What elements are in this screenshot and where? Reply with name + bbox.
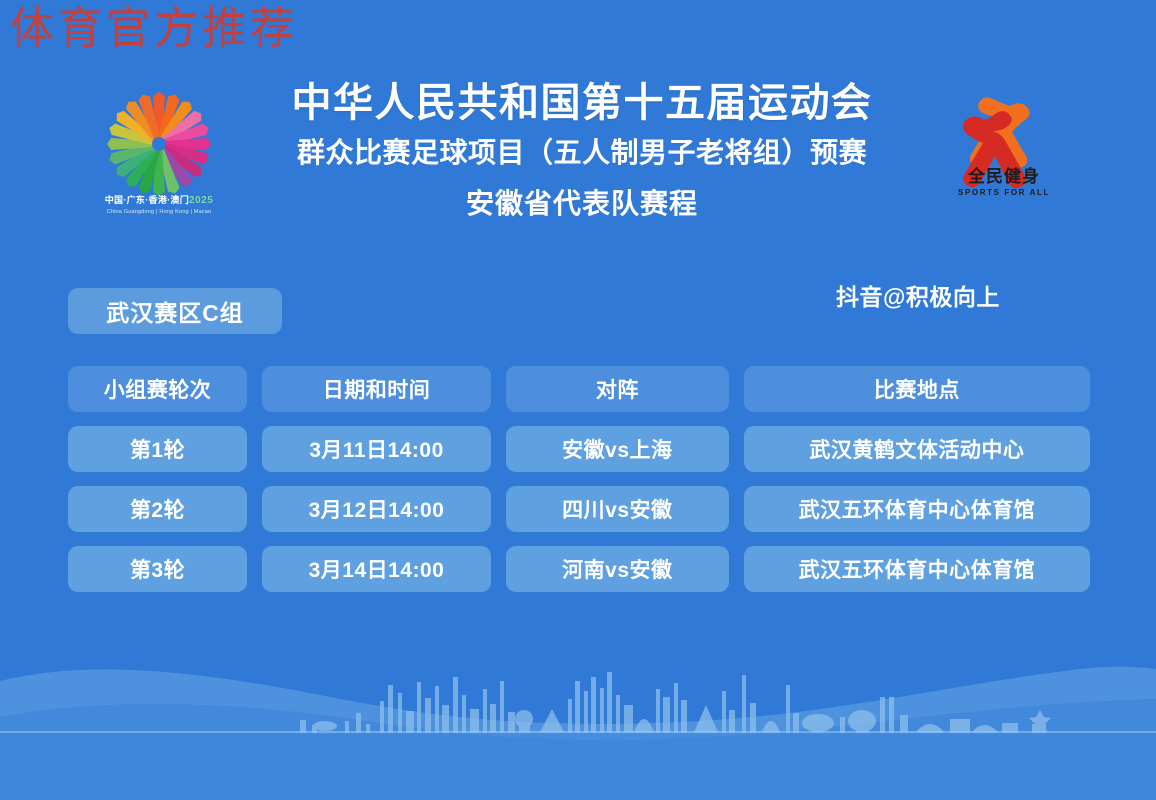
water-line xyxy=(0,731,1156,733)
column-header-datetime: 日期和时间 xyxy=(262,366,491,412)
cell-round: 第1轮 xyxy=(68,426,247,472)
cell-venue: 武汉五环体育中心体育馆 xyxy=(744,486,1090,532)
water-band xyxy=(0,732,1156,800)
page-title: 中华人民共和国第十五届运动会 xyxy=(218,78,946,128)
city-skyline xyxy=(300,672,1051,732)
table-row: 第2轮 3月12日14:00 四川vs安徽 武汉五环体育中心体育馆 xyxy=(68,486,1090,532)
cell-datetime: 3月11日14:00 xyxy=(262,426,491,472)
cell-matchup: 四川vs安徽 xyxy=(506,486,729,532)
title-block: 中华人民共和国第十五届运动会 群众比赛足球项目（五人制男子老将组）预赛 安徽省代… xyxy=(218,78,946,223)
table-row: 第3轮 3月14日14:00 河南vs安徽 武汉五环体育中心体育馆 xyxy=(68,546,1090,592)
cell-venue: 武汉五环体育中心体育馆 xyxy=(744,546,1090,592)
team-subtitle: 安徽省代表队赛程 xyxy=(218,184,946,223)
logo-left-caption-year: 2025 xyxy=(189,195,213,206)
cell-matchup: 河南vs安徽 xyxy=(506,546,729,592)
city-skyline-reflection xyxy=(300,732,1051,792)
logo-left-caption-en: China Guangdong | Hong Kong | Macao xyxy=(100,209,218,215)
event-subtitle: 群众比赛足球项目（五人制男子老将组）预赛 xyxy=(218,132,946,174)
cell-matchup: 安徽vs上海 xyxy=(506,426,729,472)
cell-datetime: 3月12日14:00 xyxy=(262,486,491,532)
cell-round: 第2轮 xyxy=(68,486,247,532)
hill-far xyxy=(0,667,1156,800)
cell-round: 第3轮 xyxy=(68,546,247,592)
cell-venue: 武汉黄鹤文体活动中心 xyxy=(744,426,1090,472)
table-row: 第1轮 3月11日14:00 安徽vs上海 武汉黄鹤文体活动中心 xyxy=(68,426,1090,472)
cell-datetime: 3月14日14:00 xyxy=(262,546,491,592)
logo-right-caption-cn: 全民健身 xyxy=(944,168,1064,185)
logo-left-caption-cn: 中国·广东·香港·澳门 xyxy=(105,195,189,205)
hill-near xyxy=(0,699,1156,800)
sports-for-all-logo: 全民健身 SPORTS FOR ALL xyxy=(944,90,1064,212)
logo-fan-petals xyxy=(107,92,211,196)
poster-canvas: 体育官方推荐 xyxy=(0,0,1156,800)
table-header-row: 小组赛轮次 日期和时间 对阵 比赛地点 xyxy=(68,366,1090,412)
schedule-table: 小组赛轮次 日期和时间 对阵 比赛地点 第1轮 3月11日14:00 安徽vs上… xyxy=(68,366,1090,606)
watermark-text: 体育官方推荐 xyxy=(10,6,298,52)
skyline-decoration xyxy=(0,625,1156,800)
group-badge: 武汉赛区C组 xyxy=(68,288,282,334)
column-header-venue: 比赛地点 xyxy=(744,366,1090,412)
column-header-matchup: 对阵 xyxy=(506,366,729,412)
social-handle: 抖音@积极向上 xyxy=(836,278,1000,312)
logo-right-caption-en: SPORTS FOR ALL xyxy=(944,188,1064,197)
poster-header: 中国·广东·香港·澳门2025 China Guangdong | Hong K… xyxy=(0,78,1156,258)
column-header-round: 小组赛轮次 xyxy=(68,366,247,412)
fifteenth-national-games-logo: 中国·广东·香港·澳门2025 China Guangdong | Hong K… xyxy=(100,86,218,214)
